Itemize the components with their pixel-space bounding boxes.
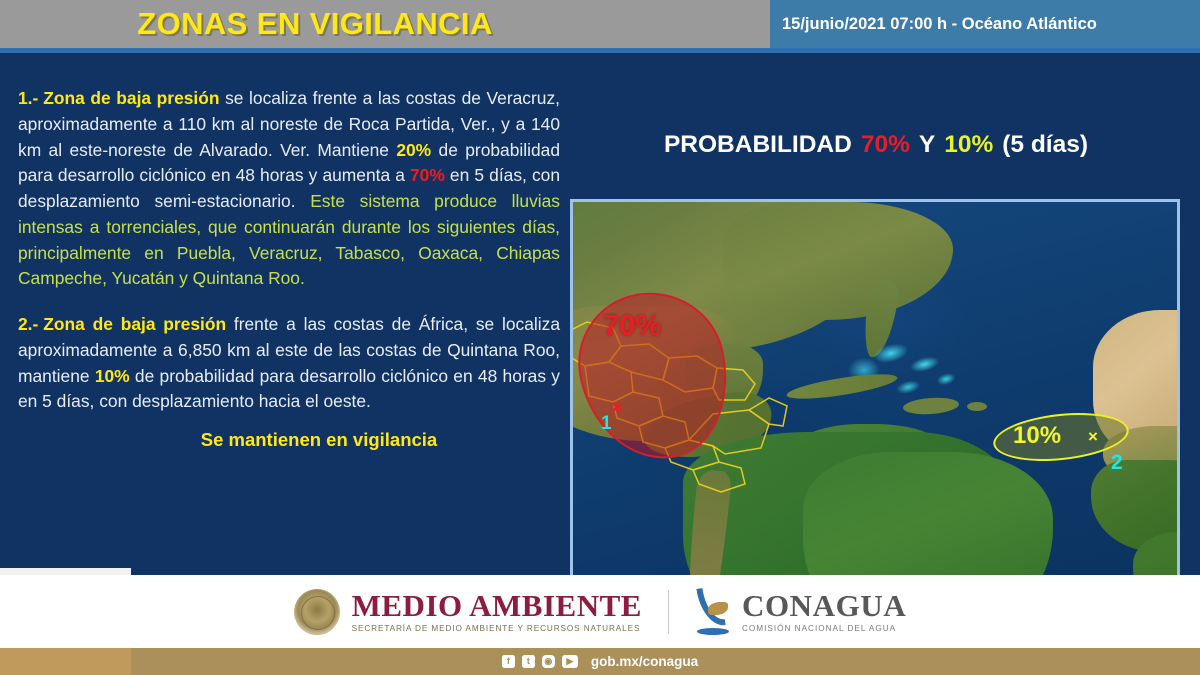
panel-bottom-sliver — [0, 568, 131, 575]
water-drop-icon — [695, 587, 731, 637]
watch-zone-1-number: 1 — [601, 414, 612, 433]
semarnat-logo: MEDIO AMBIENTE SECRETARÍA DE MEDIO AMBIE… — [294, 589, 642, 635]
footer-divider — [668, 590, 669, 634]
paragraph-2-number: 2.- — [18, 314, 38, 334]
probability-suffix: (5 días) — [1002, 131, 1088, 158]
report-datetime: 15/junio/2021 07:00 h - Océano Atlántico — [782, 15, 1097, 34]
probability-value-10: 10% — [944, 131, 993, 158]
report-text-column: 1.-Zona de baja presión se localiza fren… — [18, 86, 560, 451]
semarnat-subtitle: SECRETARÍA DE MEDIO AMBIENTE Y RECURSOS … — [352, 624, 642, 633]
paragraph-2-prob: 10% — [95, 366, 130, 386]
paragraph-2: 2.-Zona de baja presión frente a las cos… — [18, 312, 560, 415]
probability-conjunction: Y — [919, 131, 935, 158]
paragraph-2-lead: Zona de baja presión — [43, 314, 226, 334]
closing-statement: Se mantienen en vigilancia — [18, 429, 560, 451]
youtube-icon[interactable]: ▶ — [562, 655, 578, 668]
cyclone-watch-poster: ZONAS EN VIGILANCIA 15/junio/2021 07:00 … — [0, 0, 1200, 675]
watch-zone-1-label: 70% — [603, 310, 661, 343]
website-url[interactable]: gob.mx/conagua — [591, 654, 698, 669]
twitter-icon[interactable]: t — [522, 655, 535, 668]
paragraph-1-prob-48h: 20% — [396, 140, 431, 160]
facebook-icon[interactable]: f — [502, 655, 515, 668]
probability-value-70: 70% — [861, 131, 910, 158]
gold-bar-left-segment — [0, 648, 131, 675]
header-bar: ZONAS EN VIGILANCIA 15/junio/2021 07:00 … — [0, 0, 1200, 48]
conagua-subtitle: COMISIÓN NACIONAL DEL AGUA — [742, 624, 906, 633]
watch-zone-2-marker-icon: × — [1088, 428, 1098, 445]
landmass-puerto-rico — [967, 402, 987, 411]
paragraph-1-prob-5d: 70% — [410, 165, 445, 185]
page-title: ZONAS EN VIGILANCIA — [137, 6, 493, 42]
conagua-logo: CONAGUA COMISIÓN NACIONAL DEL AGUA — [695, 587, 906, 637]
semarnat-name: MEDIO AMBIENTE — [352, 590, 642, 623]
header-title-band: ZONAS EN VIGILANCIA — [0, 0, 770, 48]
main-panel: 1.-Zona de baja presión se localiza fren… — [0, 53, 1200, 575]
conagua-name: CONAGUA — [742, 590, 906, 623]
mexican-eagle-seal-icon — [294, 589, 340, 635]
header-date-band: 15/junio/2021 07:00 h - Océano Atlántico — [770, 0, 1200, 48]
paragraph-1-number: 1.- — [18, 88, 38, 108]
footer-branding-bar: MEDIO AMBIENTE SECRETARÍA DE MEDIO AMBIE… — [0, 575, 1200, 648]
atlantic-basin-map[interactable]: 70% × 1 10% × 2 — [570, 199, 1180, 599]
social-media-bar: f t ◉ ▶ gob.mx/conagua — [0, 648, 1200, 675]
instagram-icon[interactable]: ◉ — [542, 655, 555, 668]
watch-zone-2-label: 10% — [1013, 422, 1061, 450]
probability-header: PROBABILIDAD70%Y10%(5 días) — [572, 131, 1180, 159]
watch-zone-1-marker-icon: × — [611, 398, 623, 418]
landmass-southeast-usa — [723, 202, 953, 320]
map-satellite-background: 70% × 1 10% × 2 — [573, 202, 1177, 596]
probability-prefix: PROBABILIDAD — [664, 131, 852, 158]
watch-zone-2-number: 2 — [1111, 452, 1123, 473]
paragraph-1-lead: Zona de baja presión — [43, 88, 219, 108]
paragraph-1: 1.-Zona de baja presión se localiza fren… — [18, 86, 560, 292]
